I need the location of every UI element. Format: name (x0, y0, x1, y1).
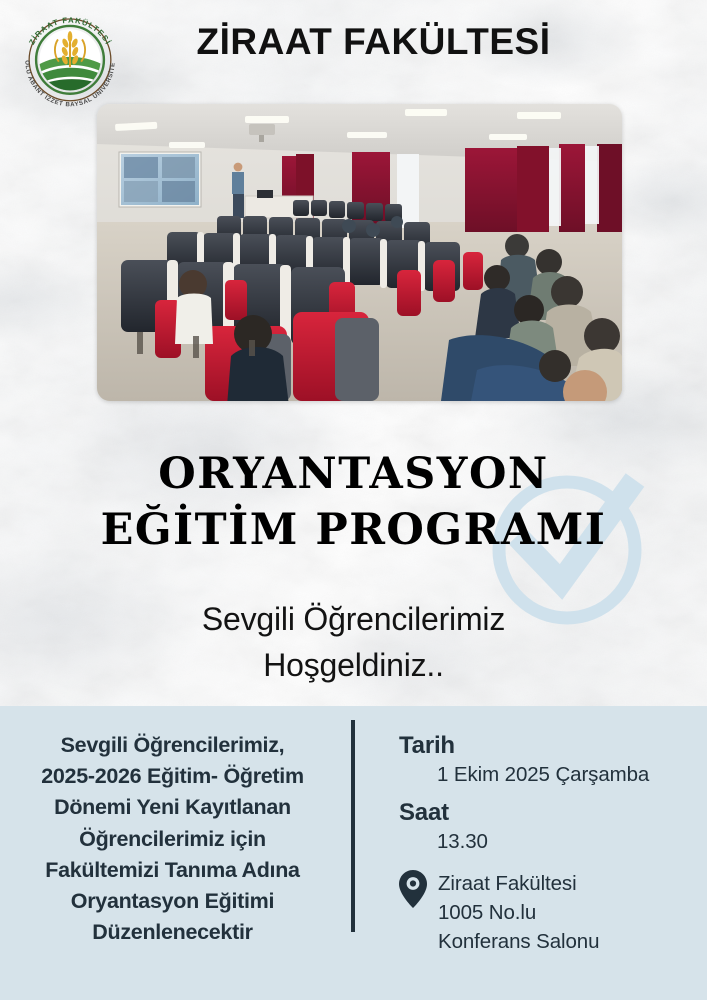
announcement-line: Sevgili Öğrencilerimiz, (0, 730, 345, 761)
date-value: 1 Ekim 2025 Çarşamba (437, 763, 700, 787)
announcement-line: Öğrencilerimiz için (0, 824, 345, 855)
headline-line-1: ORYANTASYON (0, 447, 707, 503)
page-title: ZİRAAT FAKÜLTESİ (0, 21, 707, 63)
info-panel: Sevgili Öğrencilerimiz, 2025-2026 Eğitim… (0, 706, 707, 1000)
subheadline-line-2: Hoşgeldiniz.. (0, 642, 707, 688)
subheadline: Sevgili Öğrencilerimiz Hoşgeldiniz.. (0, 596, 707, 688)
announcement-line: Dönemi Yeni Kayıtlanan (0, 792, 345, 823)
location-lines: Ziraat Fakültesi 1005 No.lu Konferans Sa… (438, 868, 599, 956)
announcement-line: 2025-2026 Eğitim- Öğretim (0, 761, 345, 792)
time-value: 13.30 (437, 830, 700, 854)
location-line: Ziraat Fakültesi (438, 869, 599, 898)
location-line: 1005 No.lu (438, 898, 599, 927)
announcement-text: Sevgili Öğrencilerimiz, 2025-2026 Eğitim… (0, 730, 345, 948)
headline-line-2: EĞİTİM PROGRAMI (0, 503, 707, 559)
event-details: Tarih 1 Ekim 2025 Çarşamba Saat 13.30 Zi… (380, 732, 700, 956)
headline: ORYANTASYON EĞİTİM PROGRAMI (0, 447, 707, 559)
announcement-line: Fakültemizi Tanıma Adına (0, 855, 345, 886)
poster-root: ZİRAAT FAKÜLTESİ BOLU ABANT İZZET BAYSAL… (0, 0, 707, 1000)
location-line: Konferans Salonu (438, 927, 599, 956)
poster-header: ZİRAAT FAKÜLTESİ BOLU ABANT İZZET BAYSAL… (0, 0, 707, 100)
panel-divider (351, 720, 355, 932)
location-pin-icon (399, 870, 427, 908)
announcement-line: Düzenlenecektir (0, 917, 345, 948)
time-label: Saat (399, 799, 700, 827)
date-label: Tarih (399, 732, 700, 760)
conference-hall-photo (97, 104, 622, 401)
subheadline-line-1: Sevgili Öğrencilerimiz (0, 596, 707, 642)
location-block: Ziraat Fakültesi 1005 No.lu Konferans Sa… (399, 868, 700, 956)
announcement-line: Oryantasyon Eğitimi (0, 886, 345, 917)
